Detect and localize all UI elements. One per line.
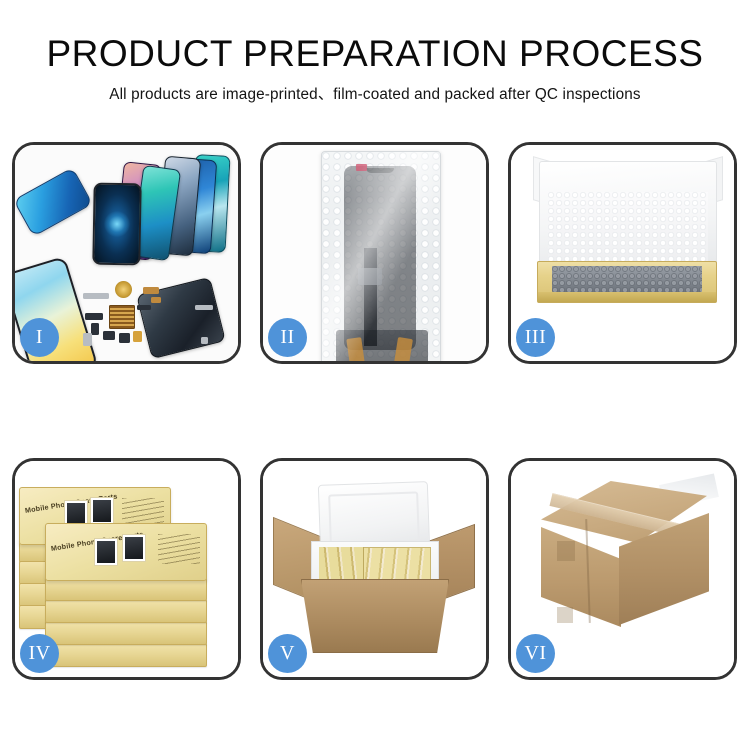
page-subtitle: All products are image-printed、film-coat…: [0, 74, 750, 104]
part-receiver-icon: [119, 333, 130, 343]
part-bracket-icon: [85, 313, 103, 320]
screen-flex-cable-icon: [364, 248, 377, 346]
step-badge-3: III: [516, 318, 555, 357]
step-badge-1: I: [20, 318, 59, 357]
box-spec-lines-icon: [158, 534, 200, 564]
step-badge-2: II: [268, 318, 307, 357]
carton-flap-mark-top: [557, 541, 575, 561]
phone-blue-backplate-icon: [15, 167, 93, 237]
foam-sheet-icon: [548, 192, 708, 264]
part-flex-cable-icon: [143, 287, 159, 294]
white-foam-lid-icon: [539, 161, 717, 271]
gold-box-top-front: Mobile Phone Spare Parts: [45, 523, 207, 581]
carton-flap-mark-bottom: [557, 607, 573, 623]
process-steps-grid: I II: [12, 142, 738, 680]
step-badge-6: VI: [516, 634, 555, 673]
part-logic-board-icon: [109, 305, 135, 329]
step-badge-5: V: [268, 634, 307, 673]
bubble-wrap-bag-icon: [321, 151, 441, 361]
gold-box-tray-icon: [537, 261, 717, 303]
part-antenna-strip-icon: [83, 293, 109, 299]
carton-body-icon: [301, 579, 449, 653]
carton-left-face-icon: [541, 527, 621, 627]
qc-sticker-icon: [356, 164, 367, 171]
part-speaker-ring-icon: [115, 281, 132, 298]
gold-box-stack-item: [45, 621, 207, 645]
gold-box-stack-item: [45, 599, 207, 623]
box-window-left-icon: [94, 538, 118, 566]
gold-box-stack-item: [45, 643, 207, 667]
process-step-panel-3[interactable]: III: [508, 142, 737, 364]
process-step-panel-4[interactable]: Mobile Phone Spare Parts Mobile Phone Sp…: [12, 458, 241, 680]
product-preparation-page: PRODUCT PREPARATION PROCESS All products…: [0, 0, 750, 750]
screen-connector-icon: [358, 268, 382, 285]
box-tray-lip-icon: [538, 292, 716, 302]
part-screwdriver-icon: [195, 305, 213, 310]
part-sim-tray-icon: [83, 333, 92, 346]
part-battery-connector-icon: [133, 331, 142, 342]
part-power-flex-icon: [137, 305, 151, 310]
box-window-right-icon: [90, 497, 114, 525]
tempered-glass-screen-icon: [92, 183, 141, 266]
part-screw-icon: [201, 337, 208, 344]
box-window-right-icon: [122, 534, 146, 562]
part-button-flex-icon: [151, 297, 161, 303]
process-step-panel-1[interactable]: I: [12, 142, 241, 364]
process-step-panel-5[interactable]: V: [260, 458, 489, 680]
process-step-panel-2[interactable]: II: [260, 142, 489, 364]
step-badge-4: IV: [20, 634, 59, 673]
lcd-screen-icon: [344, 166, 416, 350]
page-header: PRODUCT PREPARATION PROCESS All products…: [0, 0, 750, 104]
page-title: PRODUCT PREPARATION PROCESS: [0, 0, 750, 74]
part-taptic-icon: [103, 331, 115, 340]
process-step-panel-6[interactable]: VI: [508, 458, 737, 680]
part-camera-icon: [91, 323, 99, 335]
bubble-wrapped-contents-icon: [552, 266, 702, 292]
